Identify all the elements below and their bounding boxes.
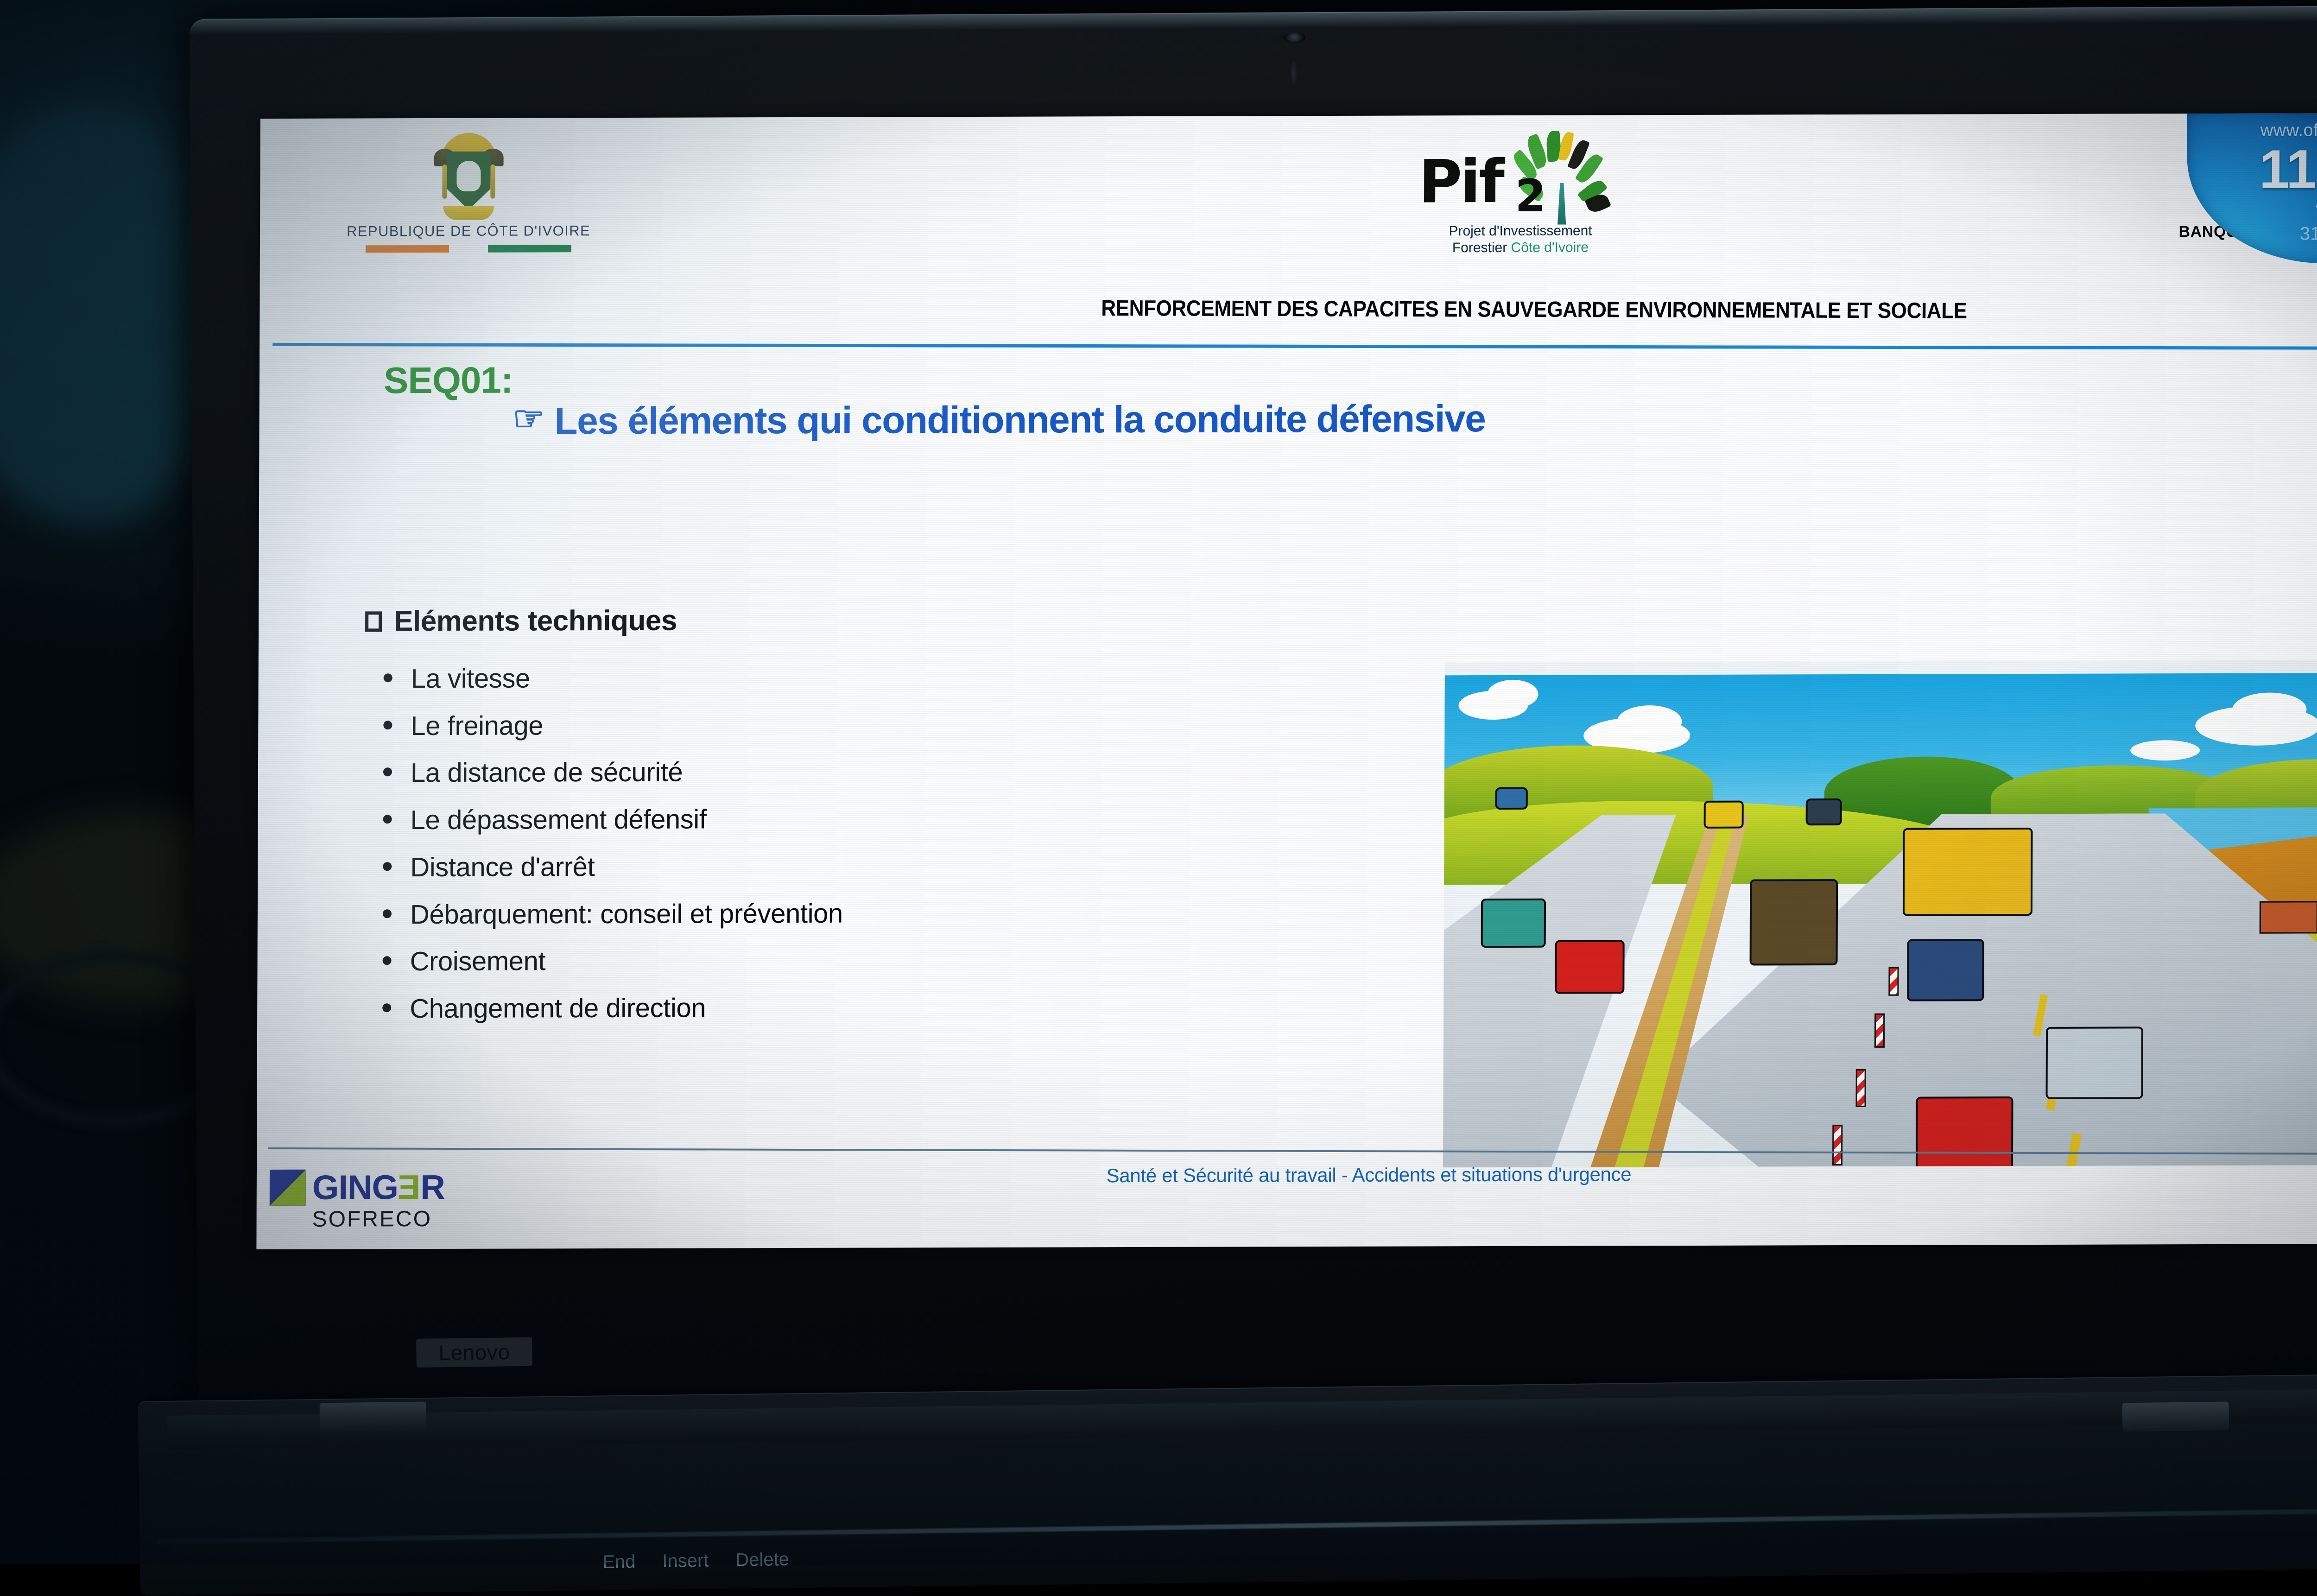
flag-bar-orange bbox=[366, 245, 449, 253]
footer-text: Santé et Sécurité au travail - Accidents… bbox=[859, 1163, 1879, 1188]
republic-logo-block: REPUBLIQUE DE CÔTE D'IVOIRE bbox=[325, 132, 613, 253]
header-divider bbox=[272, 343, 2317, 350]
highway-illustration bbox=[1443, 660, 2317, 1167]
hinge-bump-left bbox=[320, 1402, 427, 1432]
slide-header: REPUBLIQUE DE CÔTE D'IVOIRE Pif 2 Projet… bbox=[260, 113, 2317, 350]
project-subtitle-line2: Forestier Côte d'Ivoire bbox=[1196, 239, 1845, 257]
list-item: Le freinage bbox=[365, 705, 1523, 744]
ginger-word-mirror-e: E bbox=[398, 1172, 421, 1203]
key-end[interactable]: End bbox=[602, 1552, 636, 1578]
pointing-hand-icon: ☞ bbox=[513, 399, 544, 438]
bullet-dot-icon bbox=[382, 1003, 391, 1012]
section-heading-row: Eléments techniques bbox=[365, 602, 1524, 638]
project-logo-block: Pif 2 Projet d'Investissement Forestier … bbox=[1196, 130, 1845, 257]
ginger-mark-icon bbox=[270, 1170, 306, 1206]
bullet-dot-icon bbox=[383, 956, 392, 965]
list-item-label: Changement de direction bbox=[410, 990, 706, 1027]
list-item: La distance de sécurité bbox=[365, 752, 1523, 791]
list-item: Croisement bbox=[364, 941, 1522, 980]
project-subtitle-dark: Forestier bbox=[1452, 240, 1511, 255]
sequence-label: SEQ01: bbox=[384, 359, 513, 402]
pif-numeral: 2 bbox=[1515, 174, 1546, 218]
ginger-subtitle: SOFRECO bbox=[312, 1206, 529, 1232]
bullet-dot-icon bbox=[383, 721, 392, 729]
webcam-icon bbox=[1283, 32, 1305, 43]
bullet-dot-icon bbox=[383, 862, 392, 871]
section-heading: Eléments techniques bbox=[394, 604, 677, 638]
pif2-logo-icon: Pif 2 bbox=[1391, 131, 1651, 224]
ginger-wordmark: GINGER bbox=[312, 1172, 445, 1203]
republic-caption: REPUBLIQUE DE CÔTE D'IVOIRE bbox=[325, 222, 612, 240]
flag-bar-green bbox=[488, 245, 571, 252]
lenovo-badge: Lenovo bbox=[416, 1337, 532, 1368]
bullet-list: Eléments techniques La vitesse Le freina… bbox=[364, 602, 1524, 1038]
slide-title: Les éléments qui conditionnent la condui… bbox=[554, 397, 1485, 443]
lenovo-badge-label: Lenovo bbox=[438, 1339, 510, 1365]
clock-day: Vendredi bbox=[2187, 201, 2317, 224]
ginger-word-suffix: R bbox=[420, 1168, 445, 1206]
list-item: Débarquement: conseil et prévention bbox=[364, 893, 1523, 932]
clock-widget[interactable]: www.officeone.fr 11:20 Vendredi 31.10.20… bbox=[2187, 113, 2317, 264]
pif-wordmark: Pif bbox=[1418, 152, 1503, 212]
list-item-label: Le dépassement défensif bbox=[410, 802, 706, 838]
list-item-label: Distance d'arrêt bbox=[410, 849, 595, 886]
square-bullet-icon bbox=[365, 611, 382, 632]
key-insert[interactable]: Insert bbox=[662, 1550, 709, 1577]
list-item: Distance d'arrêt bbox=[364, 847, 1523, 886]
flag-bars bbox=[325, 245, 612, 253]
bezel-reflection bbox=[1291, 60, 1297, 84]
laptop-screen[interactable]: REPUBLIQUE DE CÔTE D'IVOIRE Pif 2 Projet… bbox=[256, 113, 2317, 1249]
project-subtitle-green: Côte d'Ivoire bbox=[1511, 240, 1589, 255]
slide-title-row: ☞ Les éléments qui conditionnent la cond… bbox=[513, 395, 2228, 443]
bullet-dot-icon bbox=[384, 673, 392, 682]
hinge-bump-right bbox=[2122, 1402, 2229, 1432]
laptop-lid: REPUBLIQUE DE CÔTE D'IVOIRE Pif 2 Projet… bbox=[190, 5, 2317, 1405]
coat-of-arms-icon bbox=[429, 132, 508, 220]
ginger-word-prefix: GING bbox=[312, 1168, 398, 1206]
bullet-dot-icon bbox=[383, 909, 392, 918]
list-item-label: Croisement bbox=[410, 944, 545, 980]
clock-date: 31.10.2025 bbox=[2187, 223, 2317, 245]
clock-time: 11:20 bbox=[2187, 142, 2317, 197]
clock-url: www.officeone.fr bbox=[2187, 120, 2317, 141]
key-delete[interactable]: Delete bbox=[735, 1549, 789, 1576]
list-item-label: La vitesse bbox=[411, 660, 530, 697]
project-subtitle-line1: Projet d'Investissement bbox=[1196, 222, 1845, 240]
header-banner-title: RENFORCEMENT DES CAPACITES EN SAUVEGARDE… bbox=[916, 295, 2152, 324]
list-item: La vitesse bbox=[365, 658, 1524, 697]
list-item-label: Débarquement: conseil et prévention bbox=[410, 895, 843, 932]
list-item: Le dépassement défensif bbox=[364, 799, 1523, 838]
bullet-dot-icon bbox=[383, 815, 392, 823]
ginger-sofreco-logo: GINGER SOFRECO bbox=[270, 1169, 529, 1232]
bullet-dot-icon bbox=[383, 768, 392, 777]
list-item: Changement de direction bbox=[364, 988, 1522, 1027]
list-item-label: Le freinage bbox=[411, 708, 543, 744]
list-item-label: La distance de sécurité bbox=[411, 754, 683, 791]
